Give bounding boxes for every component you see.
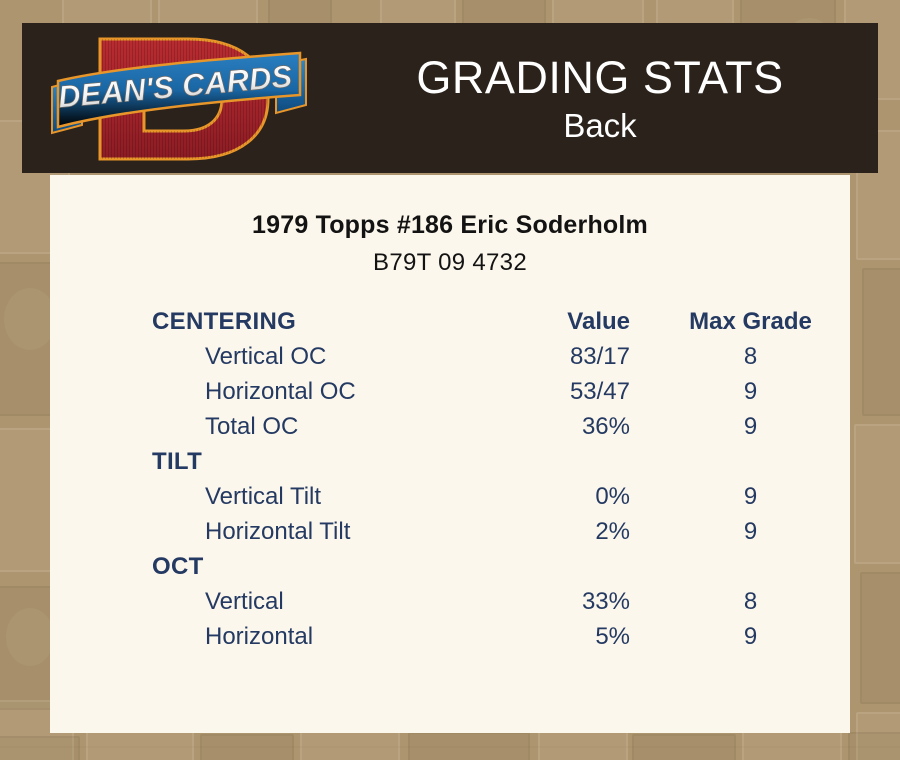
table-row: Total OC36%9: [50, 413, 850, 448]
table-row: Vertical33%8: [50, 588, 850, 623]
page-title: GRADING STATS: [416, 52, 783, 104]
table-row: Horizontal5%9: [50, 623, 850, 658]
grading-stats-table: CENTERINGValueMax GradeVertical OC83/178…: [50, 308, 850, 658]
card-serial-number: B79T 09 4732: [50, 249, 850, 277]
column-header-max-grade: Max Grade: [658, 308, 843, 336]
header-title-group: GRADING STATS Back: [322, 23, 878, 173]
table-row: Horizontal Tilt2%9: [50, 518, 850, 553]
column-header-value: Value: [455, 308, 630, 336]
stat-max-grade: 9: [658, 413, 843, 441]
stat-max-grade: 8: [658, 343, 843, 371]
stat-value: 5%: [455, 623, 630, 651]
stat-max-grade: 8: [658, 588, 843, 616]
stat-value: 83/17: [455, 343, 630, 371]
section-name: OCT: [152, 553, 204, 581]
table-row: Vertical OC83/178: [50, 343, 850, 378]
stat-value: 53/47: [455, 378, 630, 406]
stats-section-header: TILT: [50, 448, 850, 483]
table-row: Vertical Tilt0%9: [50, 483, 850, 518]
stat-max-grade: 9: [658, 623, 843, 651]
header-bar: DEAN'S CARDS GRADING STATS Back: [22, 23, 878, 173]
stats-section-header: CENTERINGValueMax Grade: [50, 308, 850, 343]
stat-max-grade: 9: [658, 378, 843, 406]
stat-value: 36%: [455, 413, 630, 441]
stat-label: Horizontal OC: [205, 378, 356, 406]
content-panel: 1979 Topps #186 Eric Soderholm B79T 09 4…: [50, 175, 850, 733]
stat-value: 0%: [455, 483, 630, 511]
stat-label: Vertical Tilt: [205, 483, 321, 511]
stat-max-grade: 9: [658, 483, 843, 511]
table-row: Horizontal OC53/479: [50, 378, 850, 413]
stat-label: Horizontal Tilt: [205, 518, 350, 546]
section-name: TILT: [152, 448, 202, 476]
section-name: CENTERING: [152, 308, 296, 336]
stats-section-header: OCT: [50, 553, 850, 588]
card-title: 1979 Topps #186 Eric Soderholm: [50, 211, 850, 240]
page-subtitle: Back: [563, 107, 636, 145]
stat-value: 33%: [455, 588, 630, 616]
stat-value: 2%: [455, 518, 630, 546]
deans-cards-logo[interactable]: DEAN'S CARDS: [48, 29, 310, 169]
stat-label: Vertical OC: [205, 343, 326, 371]
stat-label: Vertical: [205, 588, 284, 616]
stat-label: Horizontal: [205, 623, 313, 651]
stat-max-grade: 9: [658, 518, 843, 546]
stat-label: Total OC: [205, 413, 298, 441]
